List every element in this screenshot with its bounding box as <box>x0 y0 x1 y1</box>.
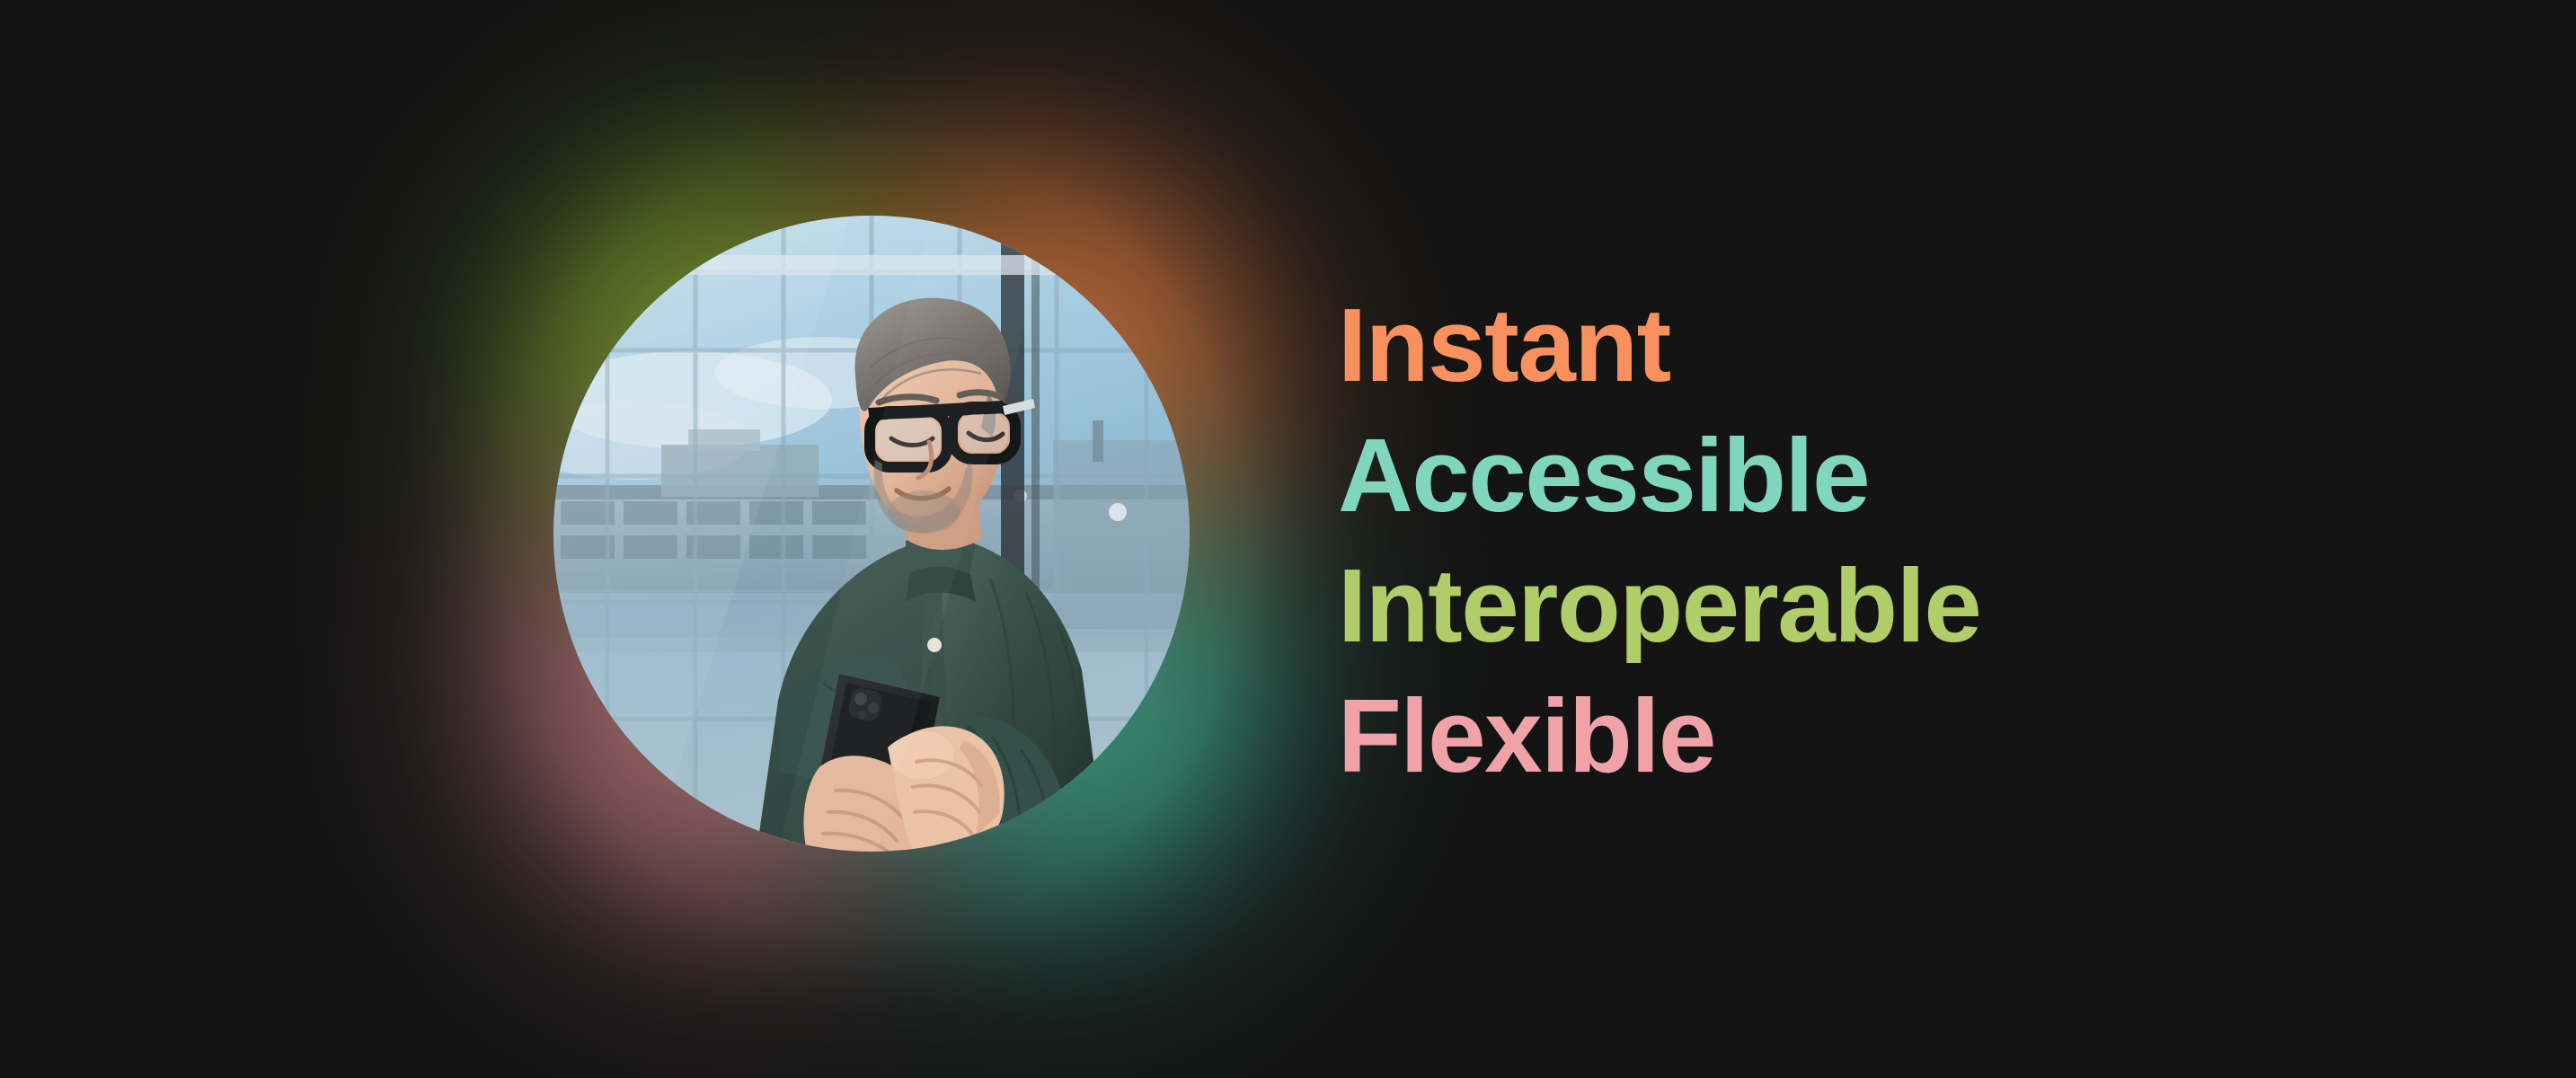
headline-word-flexible: Flexible <box>1338 671 2147 801</box>
headline-word-instant: Instant <box>1338 280 2147 411</box>
headline-word-accessible: Accessible <box>1338 411 2147 541</box>
hero-photo-illustration <box>553 216 1190 852</box>
headline-word-stack: Instant Accessible Interoperable Flexibl… <box>1338 280 2147 801</box>
hero-banner: Instant Accessible Interoperable Flexibl… <box>0 0 2576 1078</box>
headline-word-interoperable: Interoperable <box>1338 541 2147 671</box>
hero-photo <box>553 216 1190 852</box>
